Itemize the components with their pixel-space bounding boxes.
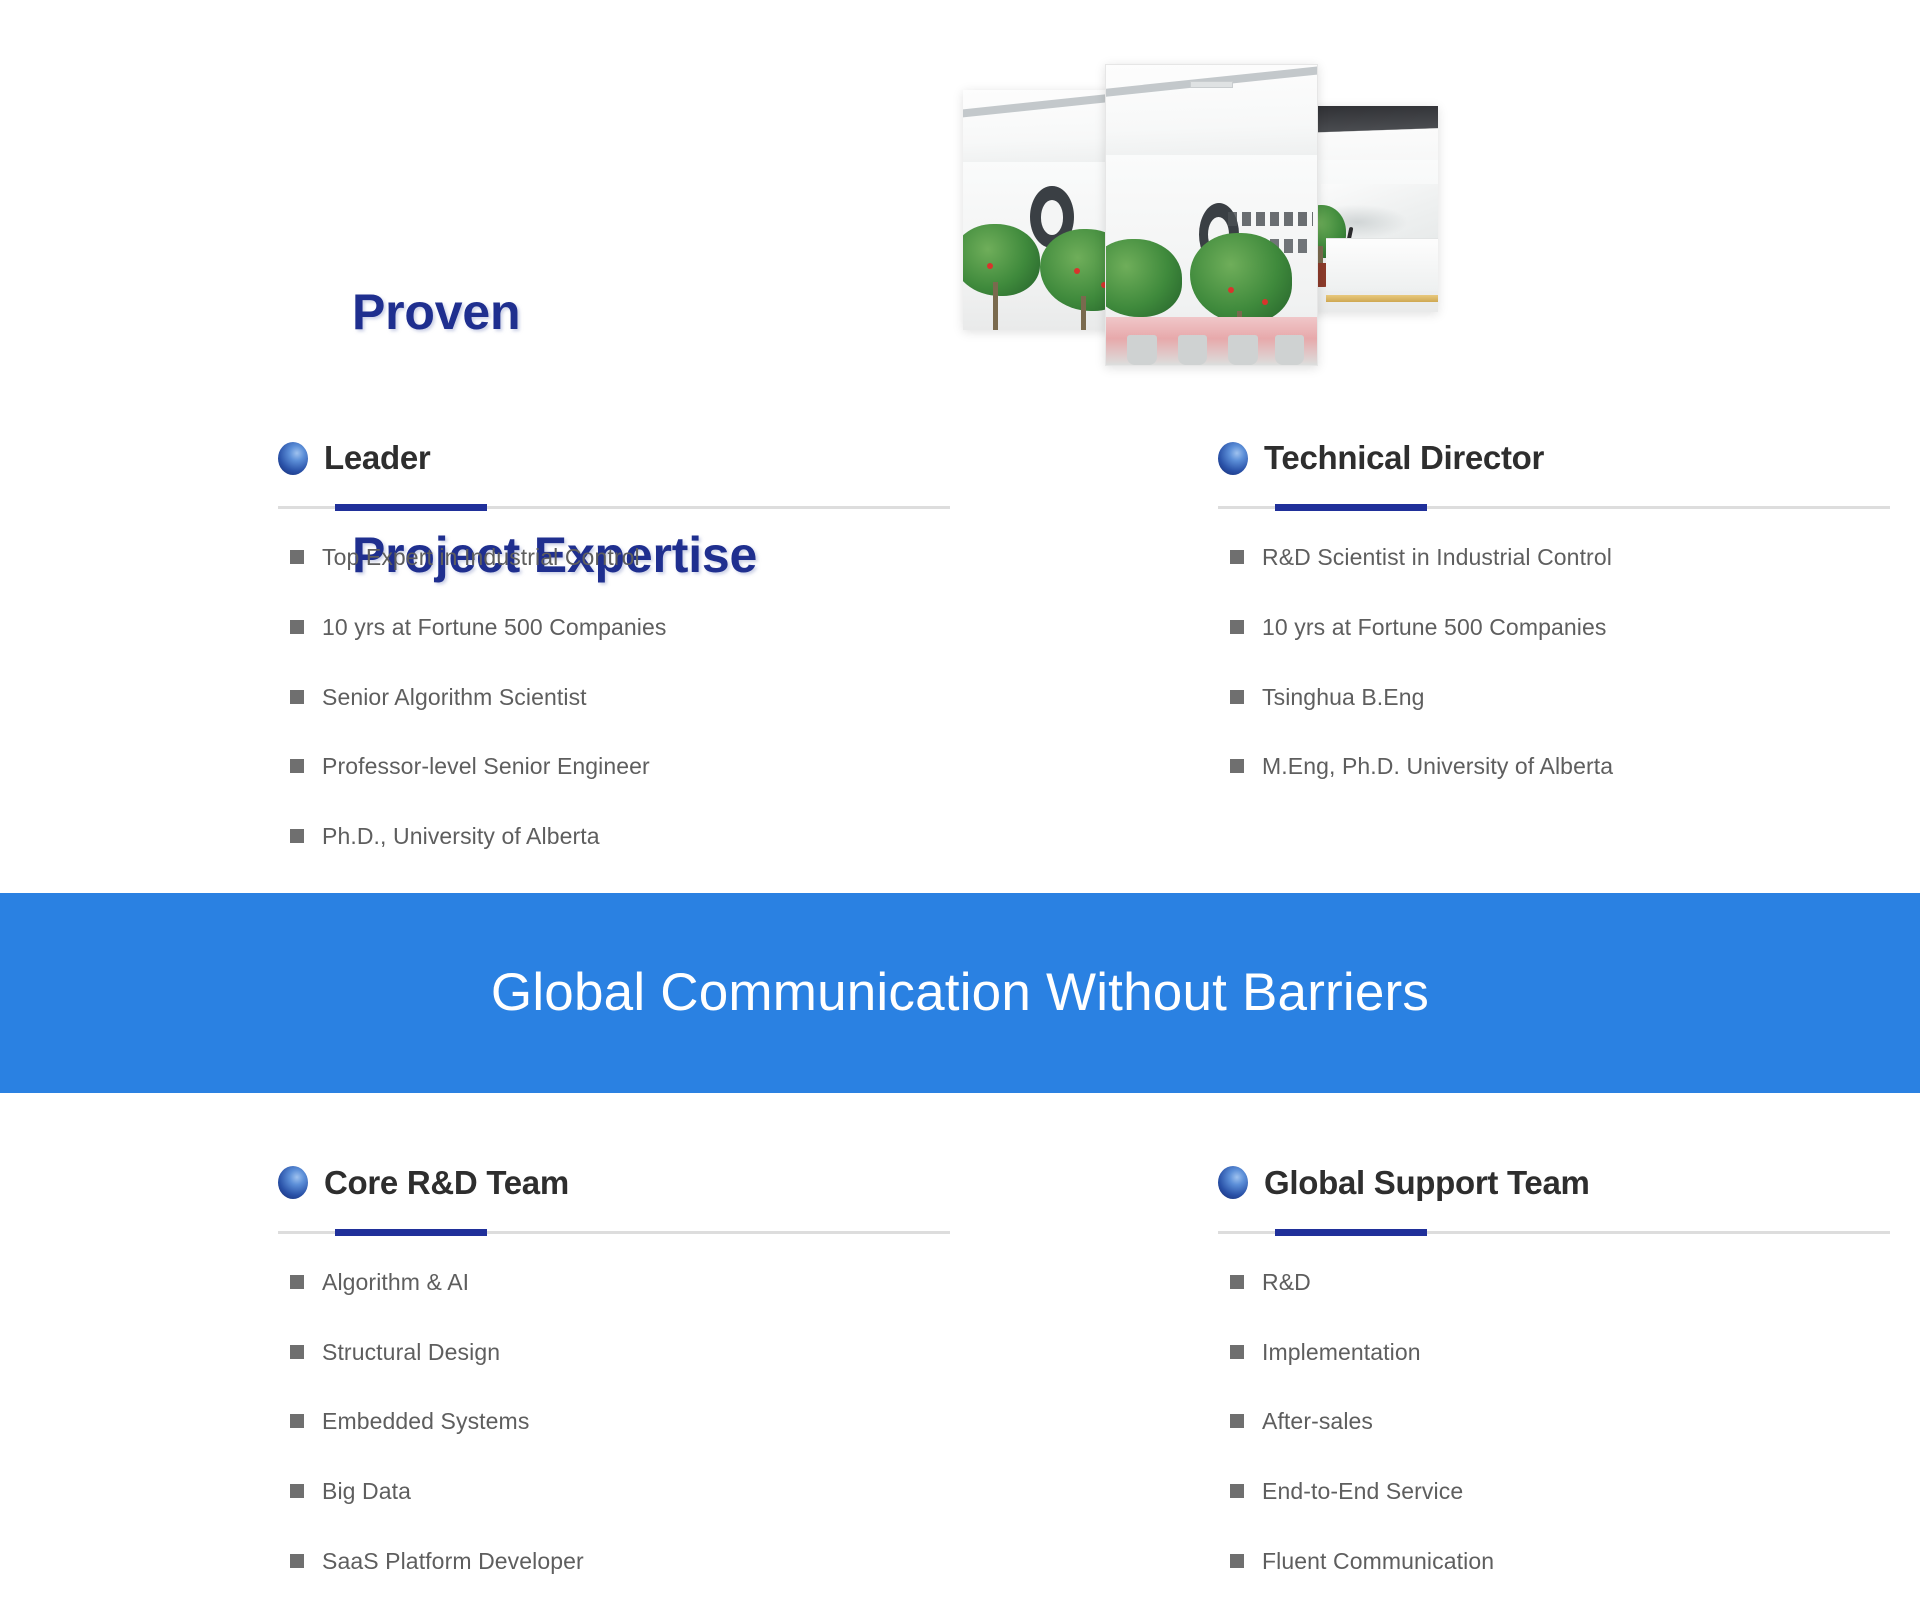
- list-item-label: Big Data: [322, 1477, 411, 1506]
- heading-divider: [278, 1231, 950, 1234]
- list-item: R&D Scientist in Industrial Control: [1218, 543, 1918, 572]
- section-heading-label: Technical Director: [1264, 439, 1544, 477]
- square-bullet-icon: [1230, 759, 1244, 773]
- blue-sphere-bullet-icon: [1218, 1166, 1248, 1199]
- core-rd-team-list: Algorithm & AI Structural Design Embedde…: [278, 1268, 978, 1576]
- column-technical-director: Technical Director R&D Scientist in Indu…: [1218, 428, 1918, 851]
- list-item-label: M.Eng, Ph.D. University of Alberta: [1262, 752, 1613, 781]
- heading-divider: [1218, 1231, 1890, 1234]
- list-item: Ph.D., University of Alberta: [278, 822, 978, 851]
- column-global-support-team: Global Support Team R&D Implementation A…: [1218, 1153, 1918, 1576]
- square-bullet-icon: [1230, 550, 1244, 564]
- section-heading-label: Core R&D Team: [324, 1164, 569, 1202]
- list-item-label: Tsinghua B.Eng: [1262, 683, 1425, 712]
- technical-director-credential-list: R&D Scientist in Industrial Control 10 y…: [1218, 543, 1918, 781]
- square-bullet-icon: [1230, 690, 1244, 704]
- square-bullet-icon: [290, 550, 304, 564]
- section-header-technical-director: Technical Director: [1218, 428, 1918, 488]
- list-item-label: After-sales: [1262, 1407, 1373, 1436]
- heading-divider: [278, 506, 950, 509]
- list-item-label: Implementation: [1262, 1338, 1421, 1367]
- square-bullet-icon: [1230, 1345, 1244, 1359]
- blue-sphere-bullet-icon: [278, 1166, 308, 1199]
- square-bullet-icon: [1230, 620, 1244, 634]
- list-item: Professor-level Senior Engineer: [278, 752, 978, 781]
- column-core-rd-team: Core R&D Team Algorithm & AI Structural …: [278, 1153, 978, 1576]
- list-item: Embedded Systems: [278, 1407, 978, 1436]
- square-bullet-icon: [290, 829, 304, 843]
- list-item: Senior Algorithm Scientist: [278, 683, 978, 712]
- global-communication-banner: Global Communication Without Barriers: [0, 893, 1920, 1093]
- list-item-label: Structural Design: [322, 1338, 500, 1367]
- list-item: Big Data: [278, 1477, 978, 1506]
- leadership-section: Leader Top Expert in Industrial Control …: [0, 428, 1920, 851]
- section-heading-label: Global Support Team: [1264, 1164, 1590, 1202]
- list-item-label: R&D Scientist in Industrial Control: [1262, 543, 1612, 572]
- global-support-team-list: R&D Implementation After-sales End-to-En…: [1218, 1268, 1918, 1576]
- list-item-label: SaaS Platform Developer: [322, 1547, 584, 1576]
- section-header-leader: Leader: [278, 428, 978, 488]
- square-bullet-icon: [290, 690, 304, 704]
- office-photo-cluster: [955, 28, 1515, 368]
- list-item: 10 yrs at Fortune 500 Companies: [278, 613, 978, 642]
- square-bullet-icon: [1230, 1275, 1244, 1289]
- list-item: Fluent Communication: [1218, 1547, 1918, 1576]
- list-item: End-to-End Service: [1218, 1477, 1918, 1506]
- square-bullet-icon: [290, 1484, 304, 1498]
- heading-divider-accent: [335, 504, 487, 511]
- square-bullet-icon: [290, 620, 304, 634]
- list-item: Structural Design: [278, 1338, 978, 1367]
- square-bullet-icon: [1230, 1414, 1244, 1428]
- hero-section: Proven Project Expertise: [0, 0, 1920, 400]
- square-bullet-icon: [290, 1414, 304, 1428]
- list-item: Top Expert in Industrial Control: [278, 543, 978, 572]
- list-item-label: Senior Algorithm Scientist: [322, 683, 587, 712]
- list-item-label: 10 yrs at Fortune 500 Companies: [1262, 613, 1606, 642]
- square-bullet-icon: [290, 1275, 304, 1289]
- square-bullet-icon: [1230, 1484, 1244, 1498]
- heading-divider-accent: [335, 1229, 487, 1236]
- slide-root: Proven Project Expertise: [0, 0, 1920, 1600]
- leader-credential-list: Top Expert in Industrial Control 10 yrs …: [278, 543, 978, 851]
- page-title-line-1: Proven: [352, 272, 757, 353]
- square-bullet-icon: [290, 759, 304, 773]
- square-bullet-icon: [290, 1345, 304, 1359]
- heading-divider: [1218, 506, 1890, 509]
- square-bullet-icon: [1230, 1554, 1244, 1568]
- list-item-label: Professor-level Senior Engineer: [322, 752, 650, 781]
- list-item-label: Embedded Systems: [322, 1407, 529, 1436]
- teams-section: Core R&D Team Algorithm & AI Structural …: [0, 1153, 1920, 1576]
- list-item: 10 yrs at Fortune 500 Companies: [1218, 613, 1918, 642]
- section-header-core-rd-team: Core R&D Team: [278, 1153, 978, 1213]
- section-heading-label: Leader: [324, 439, 430, 477]
- list-item-label: Fluent Communication: [1262, 1547, 1494, 1576]
- office-photo-center: [1105, 64, 1318, 366]
- square-bullet-icon: [290, 1554, 304, 1568]
- blue-sphere-bullet-icon: [278, 442, 308, 475]
- section-header-global-support-team: Global Support Team: [1218, 1153, 1918, 1213]
- list-item-label: End-to-End Service: [1262, 1477, 1463, 1506]
- list-item: SaaS Platform Developer: [278, 1547, 978, 1576]
- column-leader: Leader Top Expert in Industrial Control …: [278, 428, 978, 851]
- list-item: After-sales: [1218, 1407, 1918, 1436]
- list-item: R&D: [1218, 1268, 1918, 1297]
- list-item-label: R&D: [1262, 1268, 1311, 1297]
- list-item-label: Ph.D., University of Alberta: [322, 822, 600, 851]
- heading-divider-accent: [1275, 1229, 1427, 1236]
- list-item-label: Algorithm & AI: [322, 1268, 469, 1297]
- banner-title: Global Communication Without Barriers: [491, 962, 1429, 1023]
- list-item: M.Eng, Ph.D. University of Alberta: [1218, 752, 1918, 781]
- list-item: Implementation: [1218, 1338, 1918, 1367]
- heading-divider-accent: [1275, 504, 1427, 511]
- list-item: Tsinghua B.Eng: [1218, 683, 1918, 712]
- list-item-label: 10 yrs at Fortune 500 Companies: [322, 613, 666, 642]
- blue-sphere-bullet-icon: [1218, 442, 1248, 475]
- list-item: Algorithm & AI: [278, 1268, 978, 1297]
- list-item-label: Top Expert in Industrial Control: [322, 543, 640, 572]
